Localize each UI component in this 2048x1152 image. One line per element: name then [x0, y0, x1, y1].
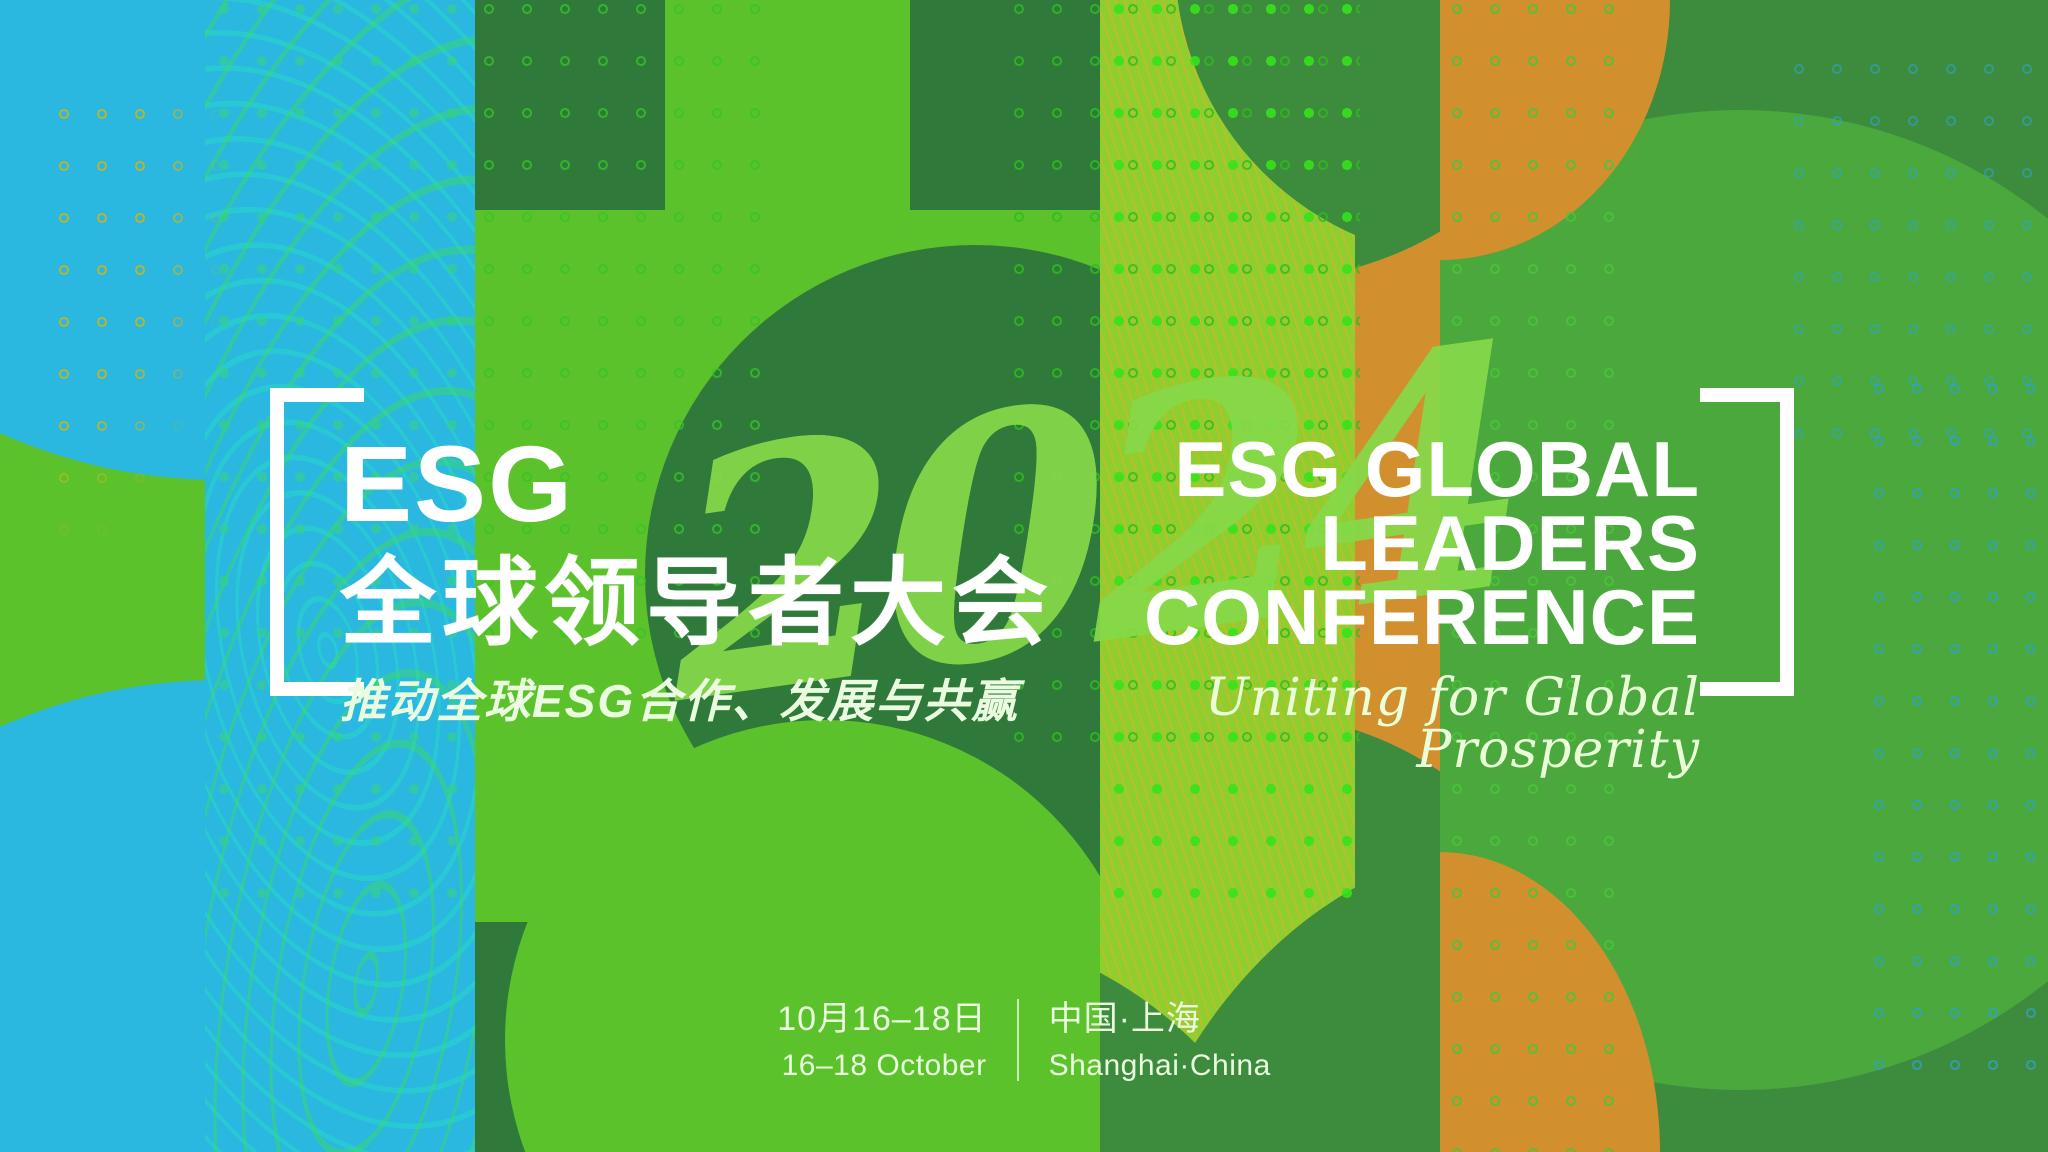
english-title-line-2: LEADERS	[1140, 506, 1700, 580]
dark-corner-top-left	[475, 0, 665, 210]
footer-info: 10月16–18日 16–18 October 中国·上海 Shanghai·C…	[0, 995, 2048, 1088]
english-tagline: Uniting for Global Prosperity	[1140, 672, 1700, 776]
date-english: 16–18 October	[777, 1044, 986, 1088]
date-chinese: 10月16–18日	[777, 995, 986, 1044]
footer-date-column: 10月16–18日 16–18 October	[777, 995, 1016, 1088]
english-main-title: ESG GLOBAL LEADERS CONFERENCE	[1140, 432, 1700, 654]
footer-place-column: 中国·上海 Shanghai·China	[1019, 995, 1271, 1088]
english-title-block: ESG GLOBAL LEADERS CONFERENCE Uniting fo…	[1140, 432, 1700, 776]
chinese-eyebrow-esg: ESG	[340, 430, 1054, 538]
place-chinese: 中国·上海	[1049, 995, 1271, 1044]
chinese-tagline: 推动全球ESG合作、发展与共赢	[340, 678, 1054, 724]
chinese-title-block: ESG 全球领导者大会 推动全球ESG合作、发展与共赢	[340, 430, 1054, 724]
place-english: Shanghai·China	[1049, 1044, 1271, 1088]
stripe-1-green	[0, 0, 205, 1152]
english-title-line-3: CONFERENCE	[1140, 580, 1700, 654]
orange-stripe-arc-top	[1355, 0, 1440, 280]
english-title-line-1: ESG GLOBAL	[1140, 432, 1700, 506]
chinese-main-title: 全球领导者大会	[340, 556, 1054, 652]
bracket-right	[1700, 388, 1794, 696]
dark-corner-top-right	[910, 0, 1100, 210]
conference-poster: 2024 ESG 全球领导者大会 推动全球ESG合作、发展与共赢 ESG GLO…	[0, 0, 2048, 1152]
cyan-arc-top	[0, 0, 205, 480]
